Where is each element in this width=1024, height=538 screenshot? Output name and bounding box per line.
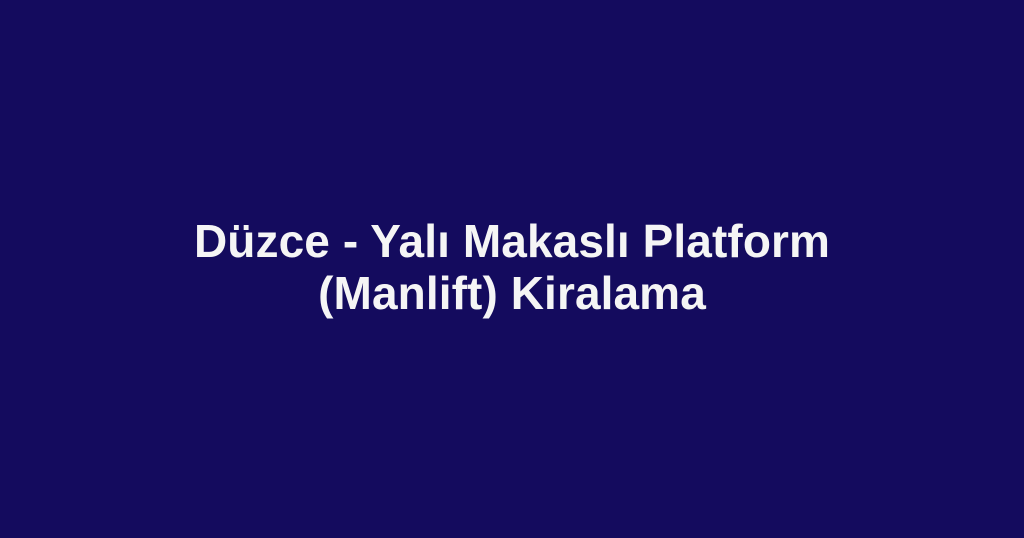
banner-canvas: Düzce - Yalı Makaslı Platform (Manlift) …	[0, 0, 1024, 538]
page-title: Düzce - Yalı Makaslı Platform (Manlift) …	[0, 215, 1024, 319]
page-title-line-1: Düzce - Yalı Makaslı Platform	[40, 215, 984, 267]
page-title-line-2: (Manlift) Kiralama	[40, 267, 984, 319]
